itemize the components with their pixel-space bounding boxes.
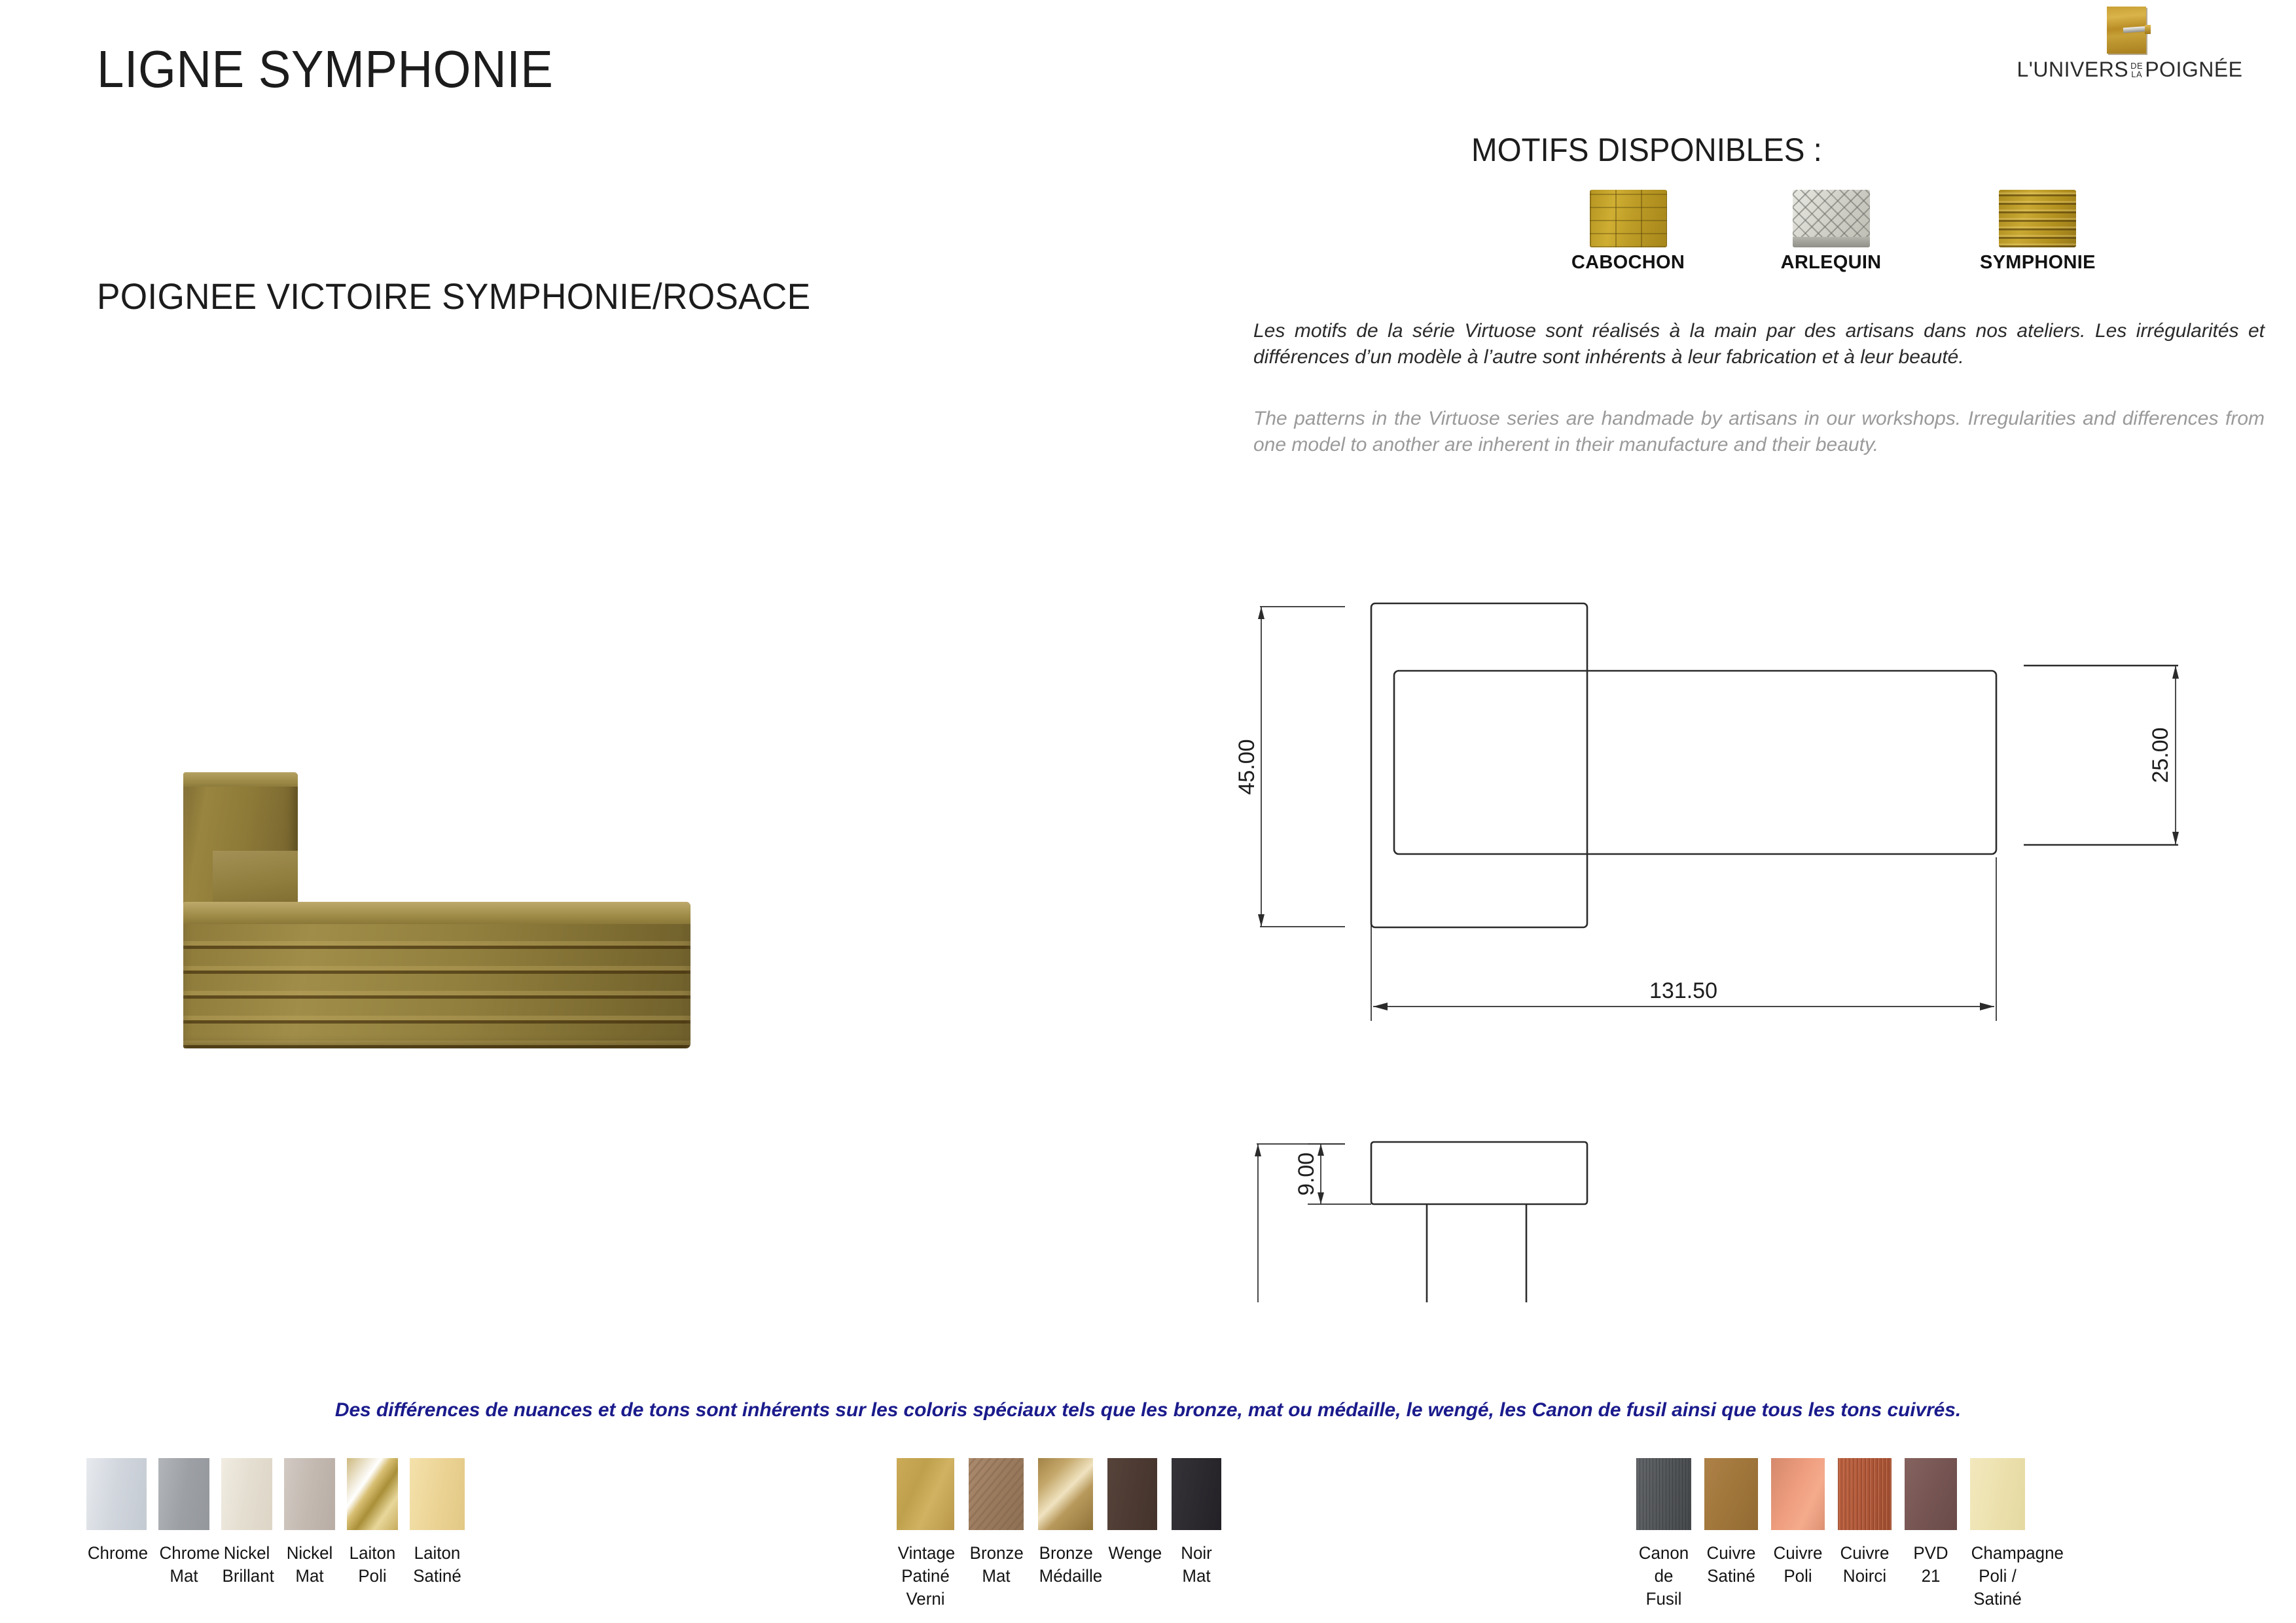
finish-label: Laiton Poli (348, 1542, 397, 1588)
door-handle-logo-icon (2107, 7, 2153, 54)
finish-color-swatch[interactable] (1838, 1458, 1892, 1530)
finish-swatch-item[interactable]: Champagne Poli / Satiné (1970, 1458, 2025, 1611)
finish-swatch-item[interactable]: Chrome Mat (158, 1458, 209, 1588)
arlequin-pattern-icon (1793, 190, 1870, 247)
finish-label: PVD 21 (1906, 1542, 1956, 1588)
finish-label: Nickel Mat (285, 1542, 334, 1588)
finish-color-swatch[interactable] (86, 1458, 147, 1530)
motif-label: ARLEQUIN (1774, 252, 1888, 274)
finish-color-swatch[interactable] (221, 1458, 272, 1530)
finish-label: Cuivre Satiné (1706, 1542, 1757, 1588)
motif-cabochon: CABOCHON (1571, 190, 1685, 274)
product-photo (167, 772, 972, 1067)
finish-swatch-item[interactable]: Nickel Brillant (221, 1458, 272, 1588)
dim-side-rose-height: 9.00 (1294, 1152, 1319, 1196)
technical-drawing-svg: 45.00 131.50 25.00 (1230, 569, 2278, 1302)
logo-text-dela: DE LA (2130, 62, 2143, 79)
datasheet-page: LIGNE SYMPHONIE POIGNEE VICTOIRE SYMPHON… (0, 0, 2296, 1623)
finish-swatch-item[interactable]: Cuivre Satiné (1704, 1458, 1758, 1588)
finish-label: Noir Mat (1173, 1542, 1221, 1588)
finish-color-swatch[interactable] (1771, 1458, 1825, 1530)
side-view-rose-outline (1371, 1142, 1587, 1204)
finish-color-swatch[interactable] (1038, 1458, 1093, 1530)
top-view-rose-outline (1371, 603, 1587, 927)
finish-color-swatch[interactable] (1704, 1458, 1758, 1530)
finish-color-swatch[interactable] (1905, 1458, 1957, 1530)
finish-label: Cuivre Noirci (1839, 1542, 1891, 1588)
logo-text-univers: L'UNIVERS (2017, 58, 2128, 82)
dim-top-length: 131.50 (1649, 978, 1717, 1003)
motif-label: SYMPHONIE (1980, 252, 2094, 274)
finish-swatch-item[interactable]: Wenge (1107, 1458, 1157, 1565)
finish-swatch-item[interactable]: Noir Mat (1172, 1458, 1221, 1588)
finish-color-swatch[interactable] (284, 1458, 335, 1530)
finish-color-swatch[interactable] (1636, 1458, 1691, 1530)
cabochon-pattern-icon (1590, 190, 1667, 247)
finish-label: Wenge (1109, 1542, 1157, 1565)
finish-label: Cuivre Poli (1772, 1542, 1824, 1588)
finish-color-swatch[interactable] (969, 1458, 1024, 1530)
finish-swatch-item[interactable]: Nickel Mat (284, 1458, 335, 1588)
motif-label: CABOCHON (1571, 252, 1685, 274)
finish-swatch-item[interactable]: Cuivre Noirci (1838, 1458, 1892, 1588)
motif-symphonie: SYMPHONIE (1980, 190, 2094, 274)
finish-swatch-item[interactable]: Cuivre Poli (1771, 1458, 1825, 1588)
finish-label: Laiton Satiné (411, 1542, 464, 1588)
finish-variation-note: Des différences de nuances et de tons so… (0, 1399, 2296, 1421)
finish-swatch-item[interactable]: PVD 21 (1905, 1458, 1957, 1588)
finish-swatch-item[interactable]: Canon de Fusil (1636, 1458, 1691, 1611)
finish-group-bronzes: Vintage Patiné VerniBronze MatBronze Méd… (897, 1458, 1221, 1611)
finish-label: Vintage Patiné Verni (898, 1542, 953, 1611)
finish-group-metals: ChromeChrome MatNickel BrillantNickel Ma… (86, 1458, 465, 1588)
finish-color-swatch[interactable] (1107, 1458, 1157, 1530)
dim-top-height: 45.00 (1234, 739, 1259, 794)
top-view-lever-outline (1394, 671, 1996, 854)
rose-plate-top-face (183, 772, 298, 787)
logo-text-poignee: POIGNÉE (2145, 58, 2242, 82)
finish-label: Nickel Brillant (223, 1542, 272, 1588)
finish-label: Canon de Fusil (1638, 1542, 1691, 1611)
finish-group-coppers: Canon de FusilCuivre SatinéCuivre PoliCu… (1636, 1458, 2025, 1611)
finish-swatch-item[interactable]: Bronze Mat (969, 1458, 1024, 1588)
motifs-heading: MOTIFS DISPONIBLES : (1471, 131, 1822, 169)
finish-label: Chrome (88, 1542, 145, 1565)
description-fr: Les motifs de la série Virtuose sont réa… (1253, 318, 2265, 370)
product-subtitle: POIGNEE VICTOIRE SYMPHONIE/ROSACE (97, 275, 810, 317)
finish-swatch-item[interactable]: Laiton Poli (347, 1458, 398, 1588)
dim-top-width: 25.00 (2148, 727, 2173, 783)
finish-color-swatch[interactable] (1172, 1458, 1221, 1530)
page-title: LIGNE SYMPHONIE (97, 39, 553, 99)
logo-text-de: DE (2130, 62, 2143, 70)
finish-color-swatch[interactable] (897, 1458, 954, 1530)
motifs-list: CABOCHON ARLEQUIN SYMPHONIE (1571, 190, 2238, 304)
description-en: The patterns in the Virtuose series are … (1253, 406, 2265, 458)
finish-swatch-item[interactable]: Vintage Patiné Verni (897, 1458, 954, 1611)
finish-swatch-item[interactable]: Laiton Satiné (410, 1458, 465, 1588)
finish-color-swatch[interactable] (410, 1458, 465, 1530)
logo-wordmark: L'UNIVERS DE LA POIGNÉE (1986, 58, 2274, 82)
finish-label: Bronze Mat (970, 1542, 1023, 1588)
finish-label: Bronze Médaille (1039, 1542, 1092, 1588)
finish-label: Chrome Mat (160, 1542, 209, 1588)
logo-lever-tip-shape (2145, 25, 2151, 34)
lever-neck (213, 851, 298, 907)
finish-color-swatch[interactable] (347, 1458, 398, 1530)
technical-drawing: 45.00 131.50 25.00 (1230, 569, 2278, 1302)
finish-color-swatch[interactable] (158, 1458, 209, 1530)
finish-swatch-item[interactable]: Bronze Médaille (1038, 1458, 1093, 1588)
finish-swatch-item[interactable]: Chrome (86, 1458, 147, 1565)
finish-label: Champagne Poli / Satiné (1971, 1542, 2024, 1611)
symphonie-pattern-icon (1999, 190, 2076, 247)
brand-logo: L'UNIVERS DE LA POIGNÉE (1986, 7, 2274, 82)
finish-color-swatch[interactable] (1970, 1458, 2025, 1530)
logo-text-la: LA (2130, 70, 2143, 79)
motif-arlequin: ARLEQUIN (1774, 190, 1888, 274)
lever-bar-top-face (183, 902, 691, 924)
